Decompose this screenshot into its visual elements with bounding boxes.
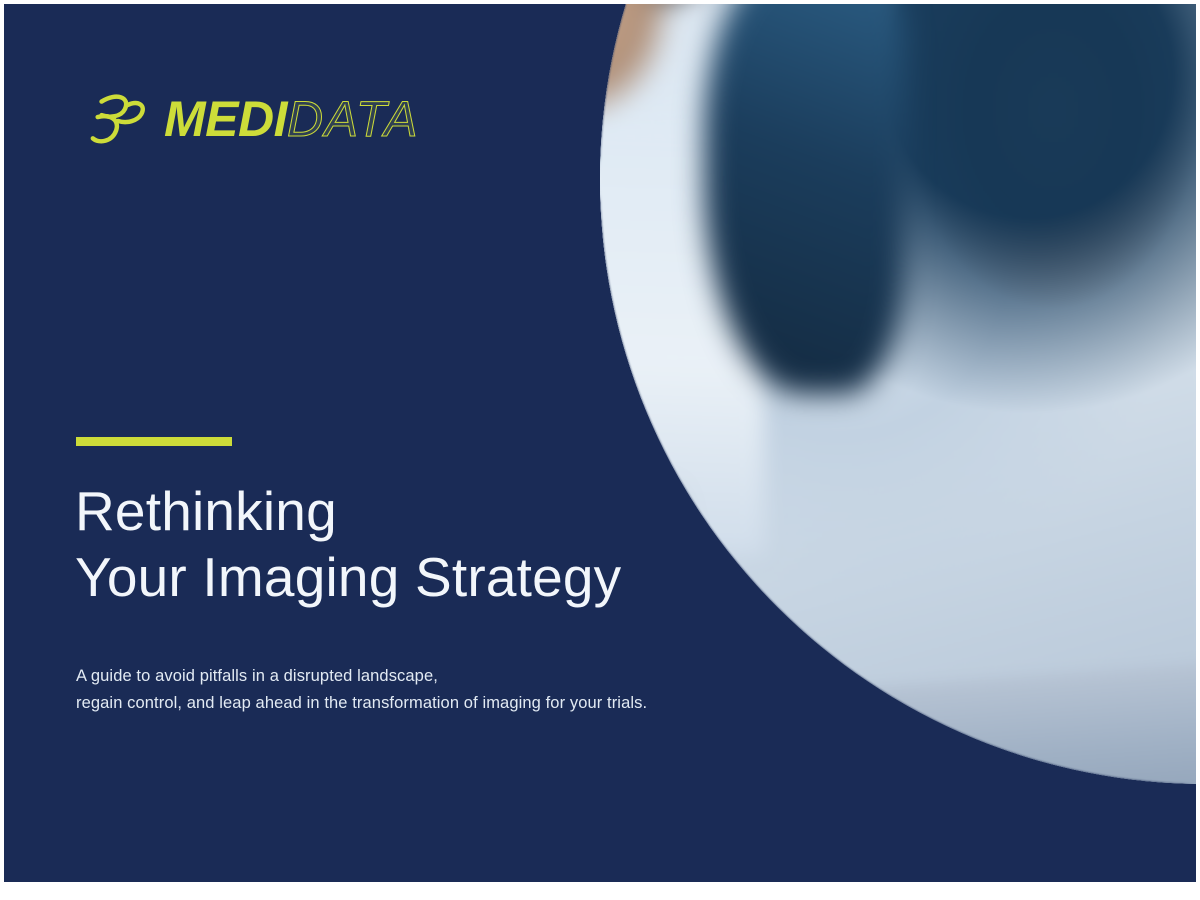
logo-wordmark: MEDIDATA	[164, 94, 419, 144]
cover-page: MEDIDATA Rethinking Your Imaging Strateg…	[0, 0, 1200, 900]
logo-word-medi: MEDI	[164, 91, 287, 147]
3ds-logo-mark	[88, 88, 150, 150]
page-subtitle: A guide to avoid pitfalls in a disrupted…	[76, 663, 816, 716]
clinician-right	[600, 4, 764, 554]
desk-object	[686, 738, 699, 751]
title-line-2: Your Imaging Strategy	[75, 544, 735, 610]
background-equipment	[704, 4, 904, 394]
sidebar-list-row[interactable]	[600, 648, 675, 665]
subtitle-line-1: A guide to avoid pitfalls in a disrupted…	[76, 663, 816, 690]
logo-word-data: DATA	[287, 91, 419, 147]
page-title: Rethinking Your Imaging Strategy	[75, 478, 735, 610]
cover-canvas: MEDIDATA Rethinking Your Imaging Strateg…	[4, 4, 1196, 882]
title-line-1: Rethinking	[75, 478, 735, 544]
sidebar-footer-button[interactable]	[606, 751, 699, 772]
medidata-logo: MEDIDATA	[88, 88, 419, 150]
stop-button[interactable]	[600, 717, 695, 755]
sidebar-section-header	[600, 635, 673, 653]
accent-rule	[76, 437, 232, 446]
subtitle-line-2: regain control, and leap ahead in the tr…	[76, 690, 816, 717]
sidebar-button[interactable]	[602, 620, 645, 637]
